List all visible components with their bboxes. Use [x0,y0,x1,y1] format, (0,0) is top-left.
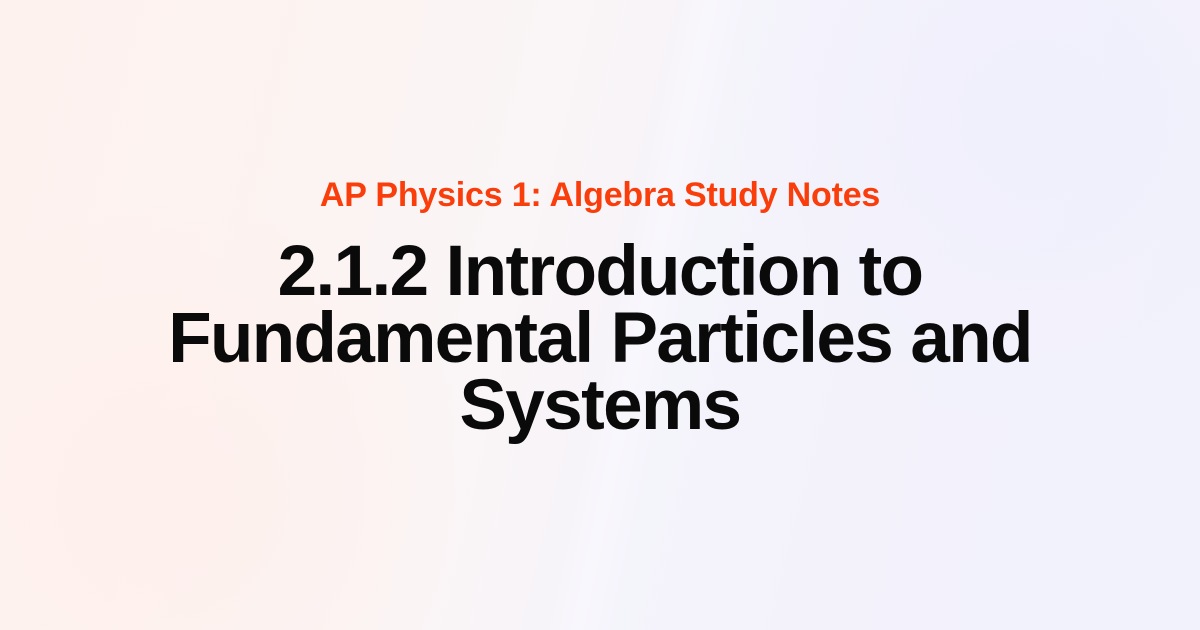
page-title: 2.1.2 Introduction to Fundamental Partic… [105,238,1095,439]
title-content-block: AP Physics 1: Algebra Study Notes 2.1.2 … [70,178,1130,439]
course-eyebrow-label: AP Physics 1: Algebra Study Notes [70,178,1130,212]
study-notes-title-card: AP Physics 1: Algebra Study Notes 2.1.2 … [0,0,1200,630]
